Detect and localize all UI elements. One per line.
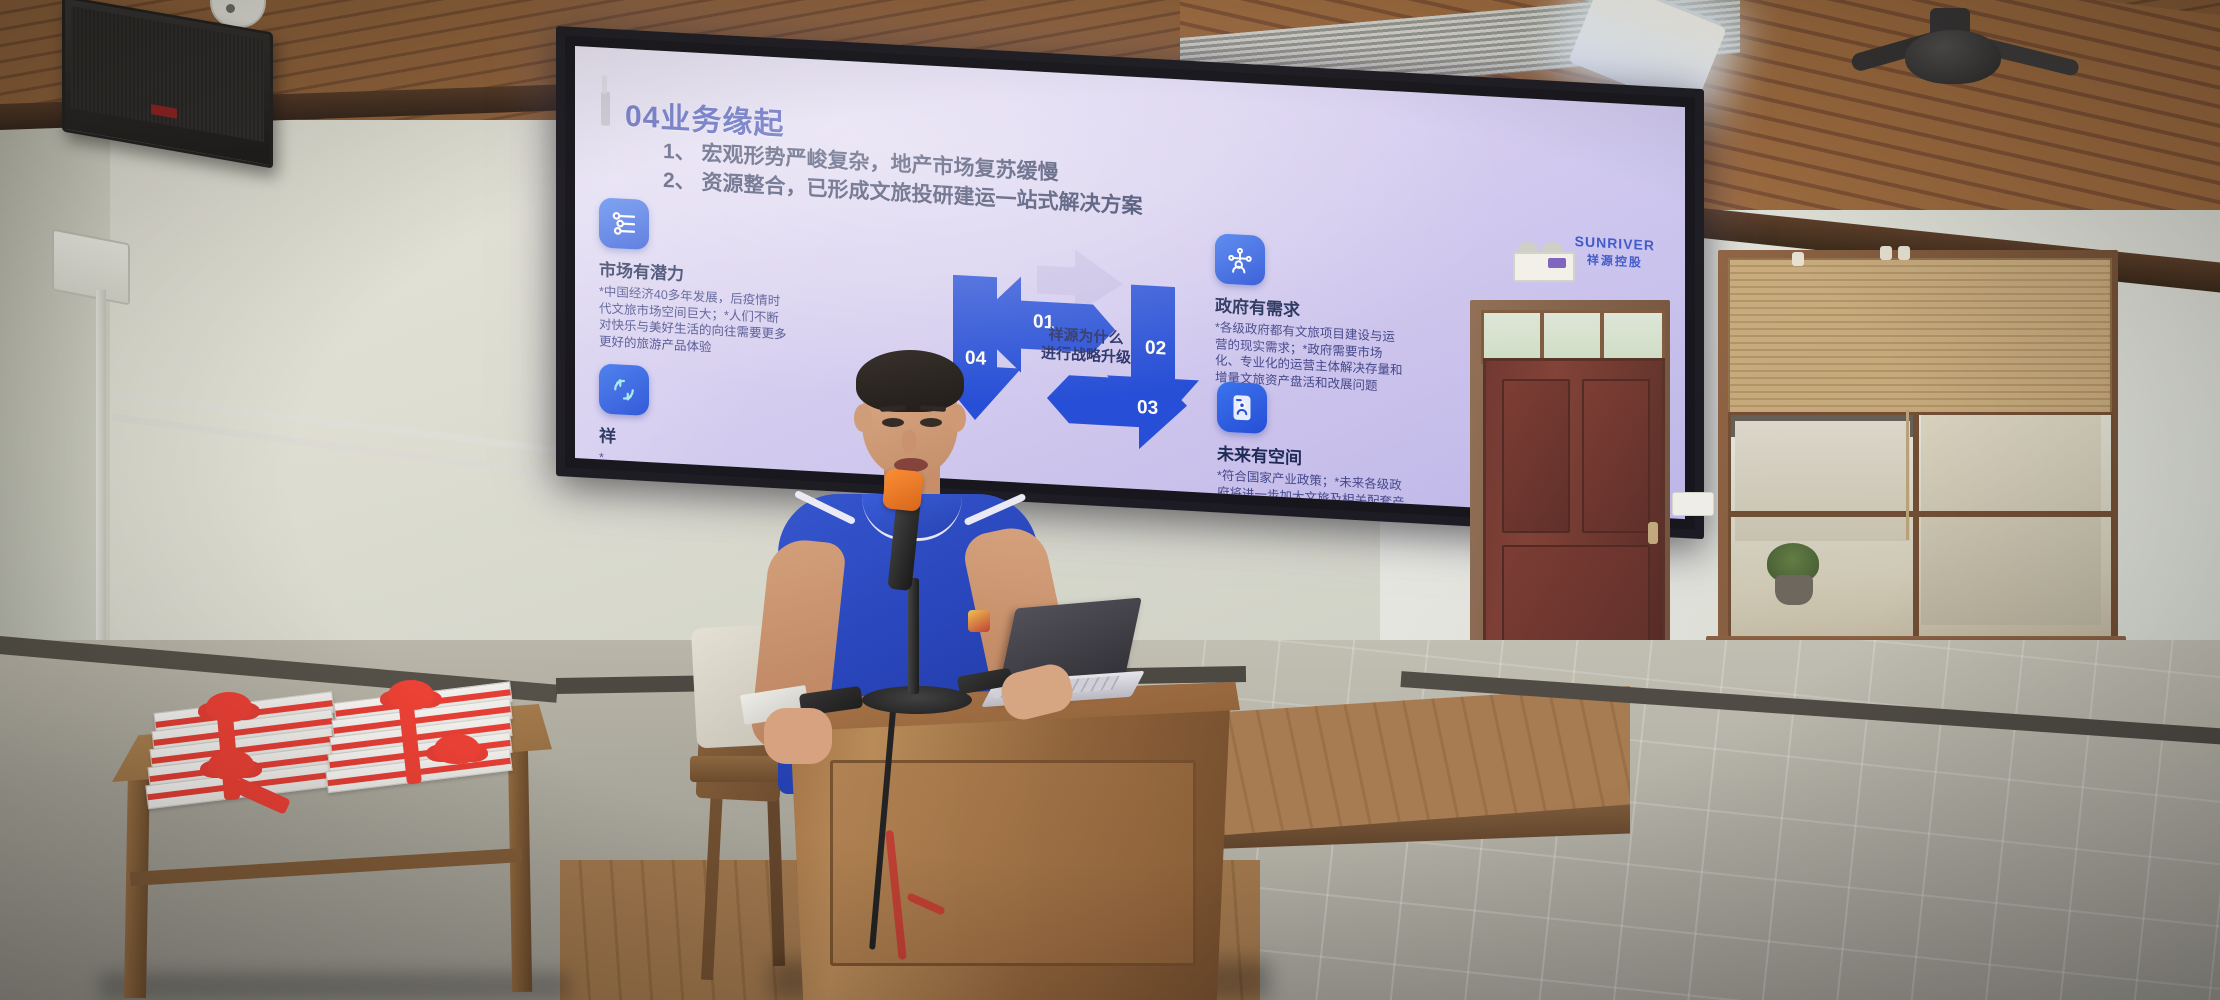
- door-handle[interactable]: [1648, 522, 1658, 544]
- blind-knob: [1880, 246, 1892, 260]
- cycle-number-03: 03: [1137, 397, 1158, 420]
- blind-pull-cord[interactable]: [1906, 410, 1909, 540]
- window-lower-pane: [1728, 412, 2114, 646]
- table-shadow: [100, 972, 570, 1000]
- microphone-stand: [908, 578, 919, 694]
- presenter-eye: [920, 418, 942, 427]
- network-people-icon: [1215, 233, 1265, 286]
- cycle-diagram: 01 02 03 04 祥源为什么 进行战略升级: [925, 225, 1255, 483]
- info-block-government: 政府有需求 *各级政府都有文旅项目建设与运营的现实需求；*政府需要市场化、专业化…: [1215, 233, 1405, 395]
- door-transom-window: [1481, 310, 1665, 364]
- info-block-market: 市场有潜力 *中国经济40多年发展，后疫情时代文旅市场空间巨大；*人们不断对快乐…: [599, 197, 789, 359]
- microphone-head[interactable]: [882, 468, 924, 512]
- presenter-left-hand: [764, 708, 832, 764]
- presenter-eye: [882, 418, 904, 427]
- blind-knob: [1898, 246, 1910, 260]
- wall-pipe: [96, 289, 106, 690]
- logo-text-cn: 祥源控股: [1575, 250, 1655, 271]
- pendant-light-dome: [1905, 30, 2001, 84]
- refresh-cycle-icon: [599, 363, 649, 416]
- gift-box-stack-right: [330, 692, 530, 792]
- presenter-ear: [948, 404, 966, 432]
- presenter-ear: [854, 404, 872, 432]
- presenter-nose: [902, 430, 916, 452]
- bamboo-blind[interactable]: [1728, 258, 2112, 414]
- room-photo-scene: 04业务缘起 1、 宏观形势严峻复杂，地产市场复苏缓慢 2、 资源整合，已形成文…: [0, 0, 2220, 1000]
- transom-mullion: [1540, 310, 1544, 358]
- presenter-lapel-pin: [968, 610, 990, 632]
- cycle-number-04: 04: [965, 348, 986, 371]
- smoke-detector-led: [226, 4, 235, 13]
- sliders-icon: [599, 197, 649, 250]
- title-bar-marker: [601, 91, 610, 125]
- emergency-light-display: [1548, 258, 1566, 268]
- light-switch[interactable]: [1672, 492, 1714, 516]
- transom-mullion: [1600, 310, 1604, 358]
- presenter-hair: [856, 350, 964, 412]
- document-person-icon: [1217, 381, 1267, 434]
- info-body-market: *中国经济40多年发展，后疫情时代文旅市场空间巨大；*人们不断对快乐与美好生活的…: [599, 283, 789, 359]
- info-body-future: *符合国家产业政策；*未来各级政府将进一步加大文旅及相关配套产业投资: [1217, 467, 1407, 519]
- blind-knob: [1792, 252, 1804, 266]
- info-block-xiangyuan: 祥 *: [599, 363, 789, 476]
- gift-box-stack-left: [150, 702, 350, 802]
- brand-logo: SUNRIVER 祥源控股: [1575, 233, 1655, 271]
- slide-title: 04业务缘起: [625, 91, 784, 144]
- info-block-future: 未来有空间 *符合国家产业政策；*未来各级政府将进一步加大文旅及相关配套产业投资: [1217, 381, 1407, 519]
